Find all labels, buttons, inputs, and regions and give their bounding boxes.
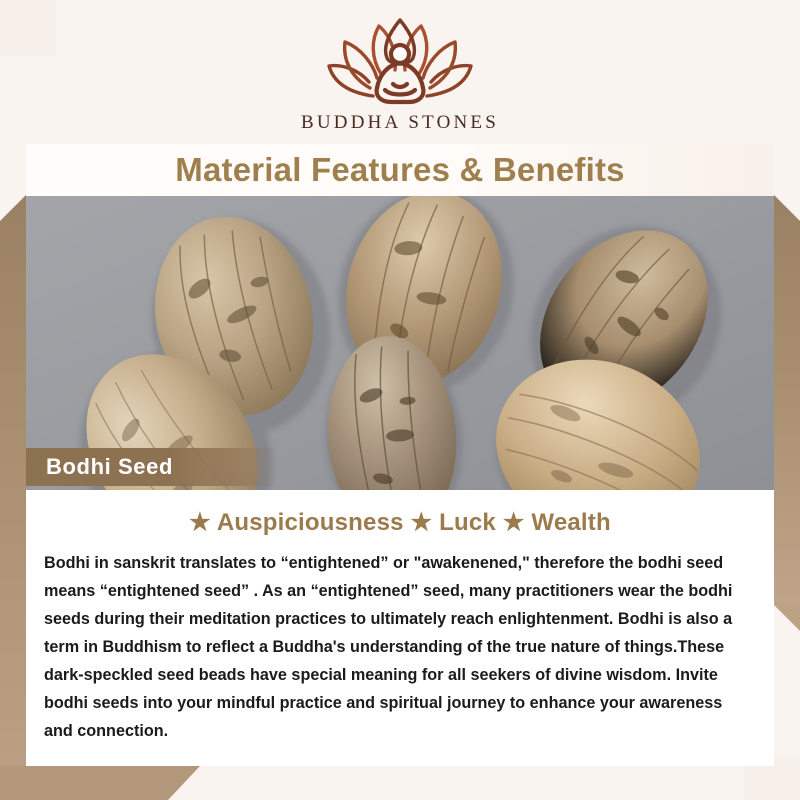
seed-name-text: Bodhi Seed [46, 454, 173, 480]
page-title: Material Features & Benefits [175, 151, 624, 189]
frame-strip-right [774, 195, 800, 605]
benefits-line: ★ Auspiciousness ★ Luck ★ Wealth [26, 508, 774, 537]
infographic-page: BUDDHA STONES Material Features & Benefi… [0, 0, 800, 800]
brand-header: BUDDHA STONES [0, 0, 800, 148]
title-banner: Material Features & Benefits [26, 144, 774, 196]
description-paragraph: Bodhi in sanskrit translates to “entight… [44, 549, 754, 745]
frame-strip-bottom-left [0, 766, 200, 800]
seed-name-label: Bodhi Seed [26, 448, 276, 486]
frame-foot-right [774, 605, 800, 631]
product-photo [26, 196, 774, 490]
brand-wordmark: BUDDHA STONES [301, 112, 499, 134]
lotus-meditation-icon [315, 14, 485, 110]
frame-strip-left [0, 195, 26, 800]
description-card: ★ Auspiciousness ★ Luck ★ Wealth Bodhi i… [26, 490, 774, 766]
